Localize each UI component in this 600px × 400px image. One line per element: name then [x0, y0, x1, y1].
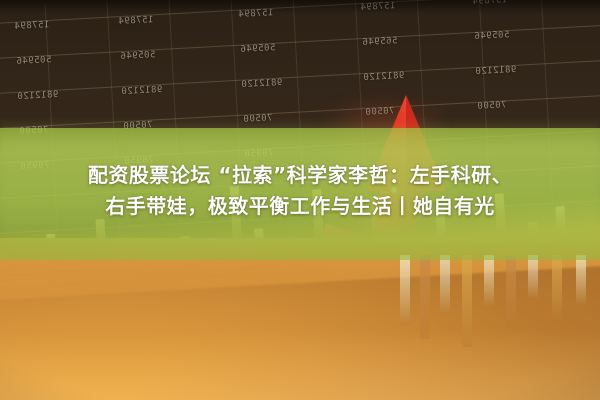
headline-line-1: 配资股票论坛 “拉索”科学家李哲：左手科研、: [0, 160, 600, 191]
article-cover-image: 1578945059469812120705007095015789450594…: [0, 0, 600, 400]
top-shadow-strip: [0, 0, 600, 14]
headline: 配资股票论坛 “拉索”科学家李哲：左手科研、 右手带娃，极致平衡工作与生活丨她自…: [0, 160, 600, 222]
headline-line-2: 右手带娃，极致平衡工作与生活丨她自有光: [0, 191, 600, 222]
